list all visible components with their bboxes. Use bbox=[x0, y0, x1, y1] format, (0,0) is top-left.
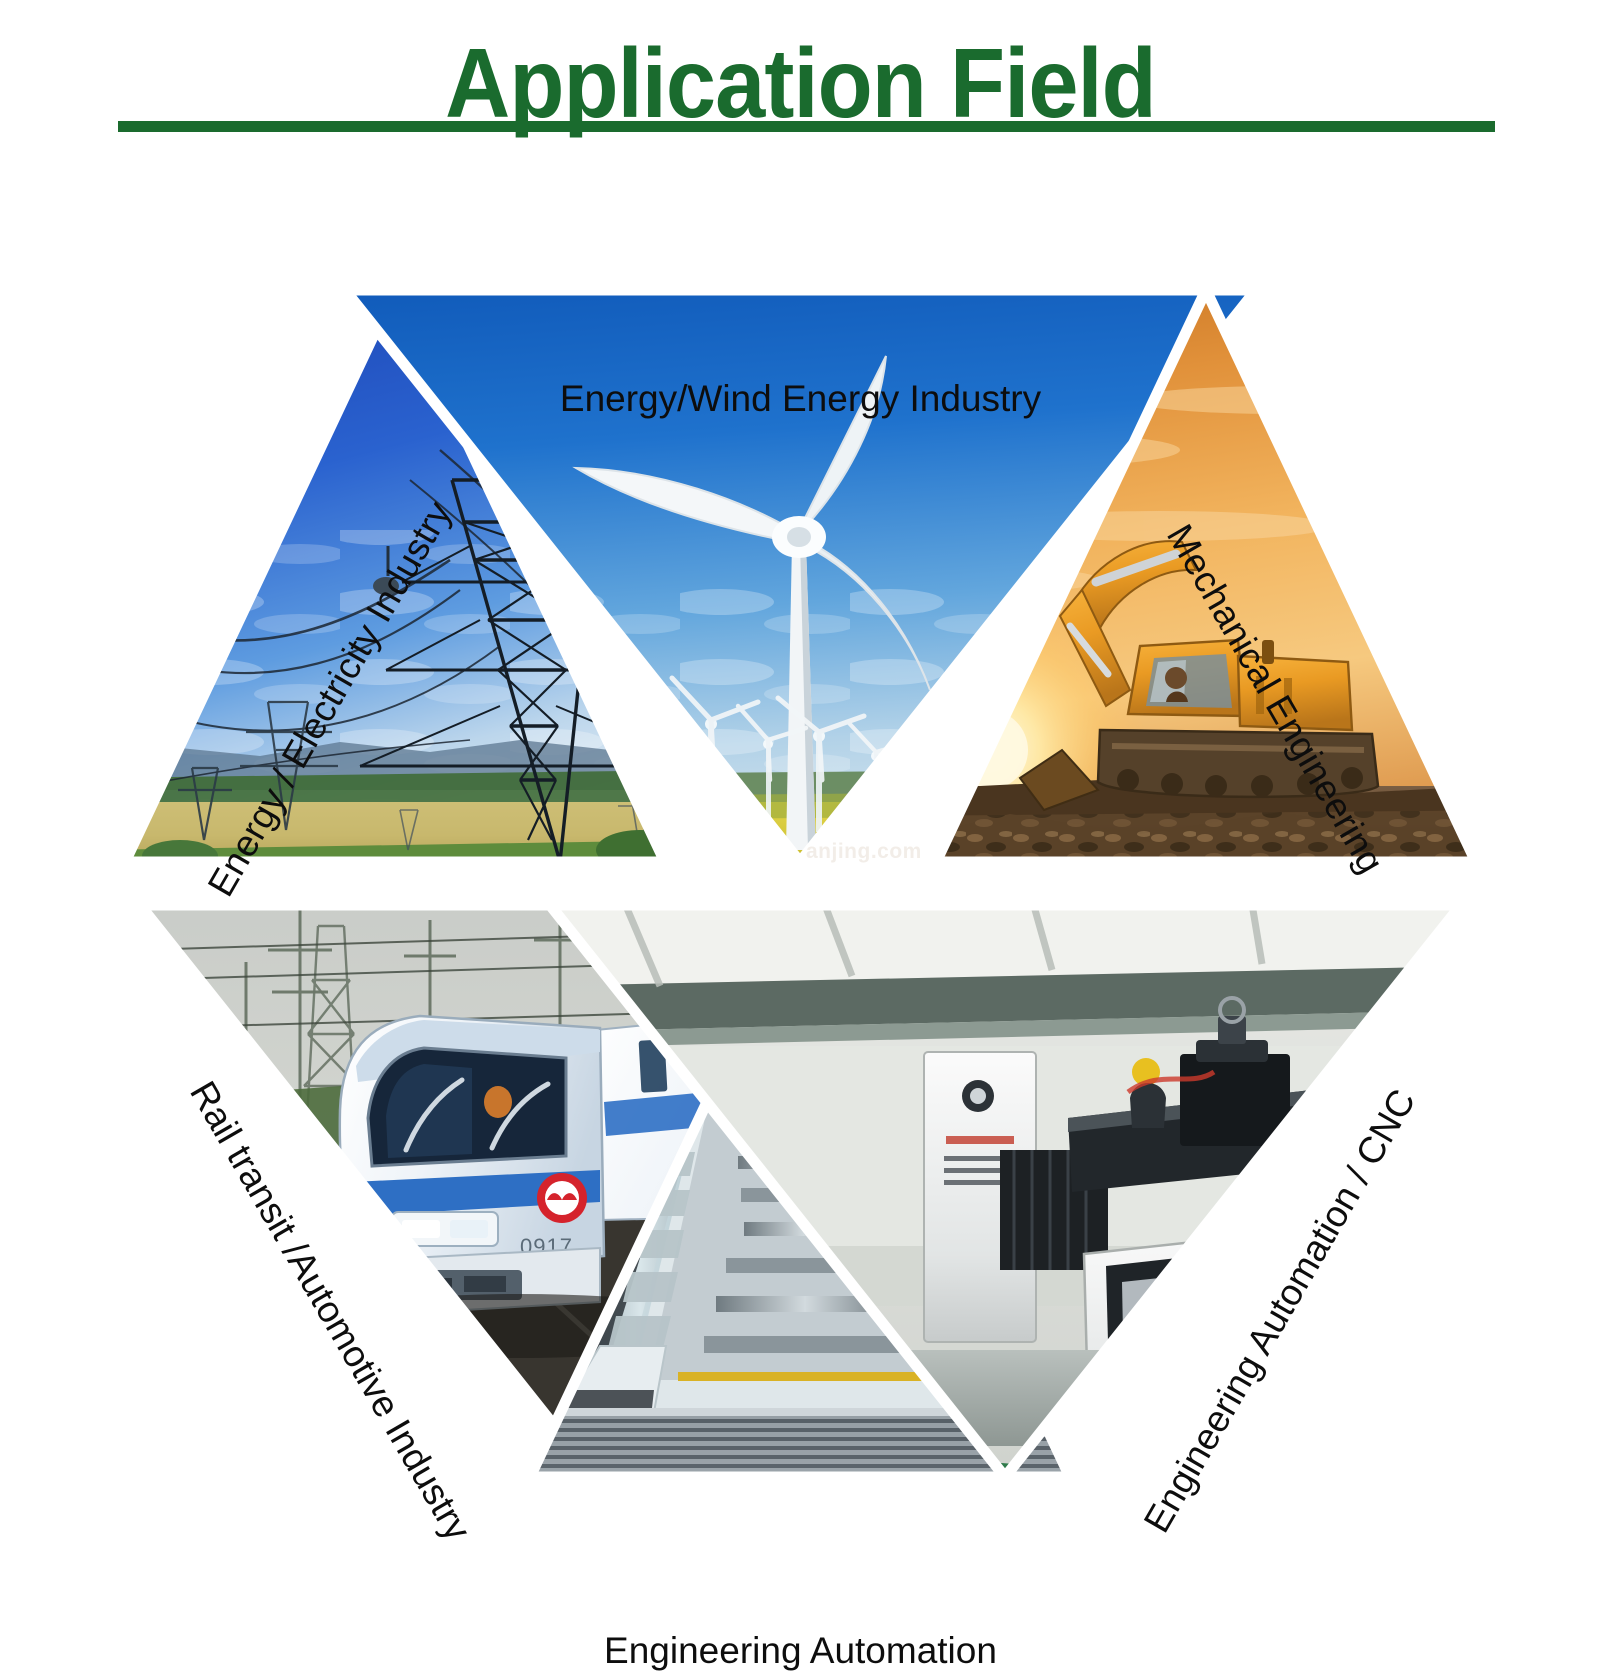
metro-roundel-logo bbox=[537, 1173, 587, 1223]
source-watermark: anjing.com bbox=[806, 840, 922, 864]
label-energy-wind: Energy/Wind Energy Industry bbox=[0, 378, 1601, 420]
title-divider-rule bbox=[118, 121, 1495, 132]
poster-header: Application Field bbox=[0, 0, 1601, 150]
label-engineering-automation: Engineering Automation bbox=[0, 1630, 1601, 1672]
poster-canvas: Application Field bbox=[0, 0, 1601, 1601]
application-field-hexagon: 0917 bbox=[0, 150, 1601, 1601]
page-title: Application Field bbox=[64, 34, 1537, 132]
